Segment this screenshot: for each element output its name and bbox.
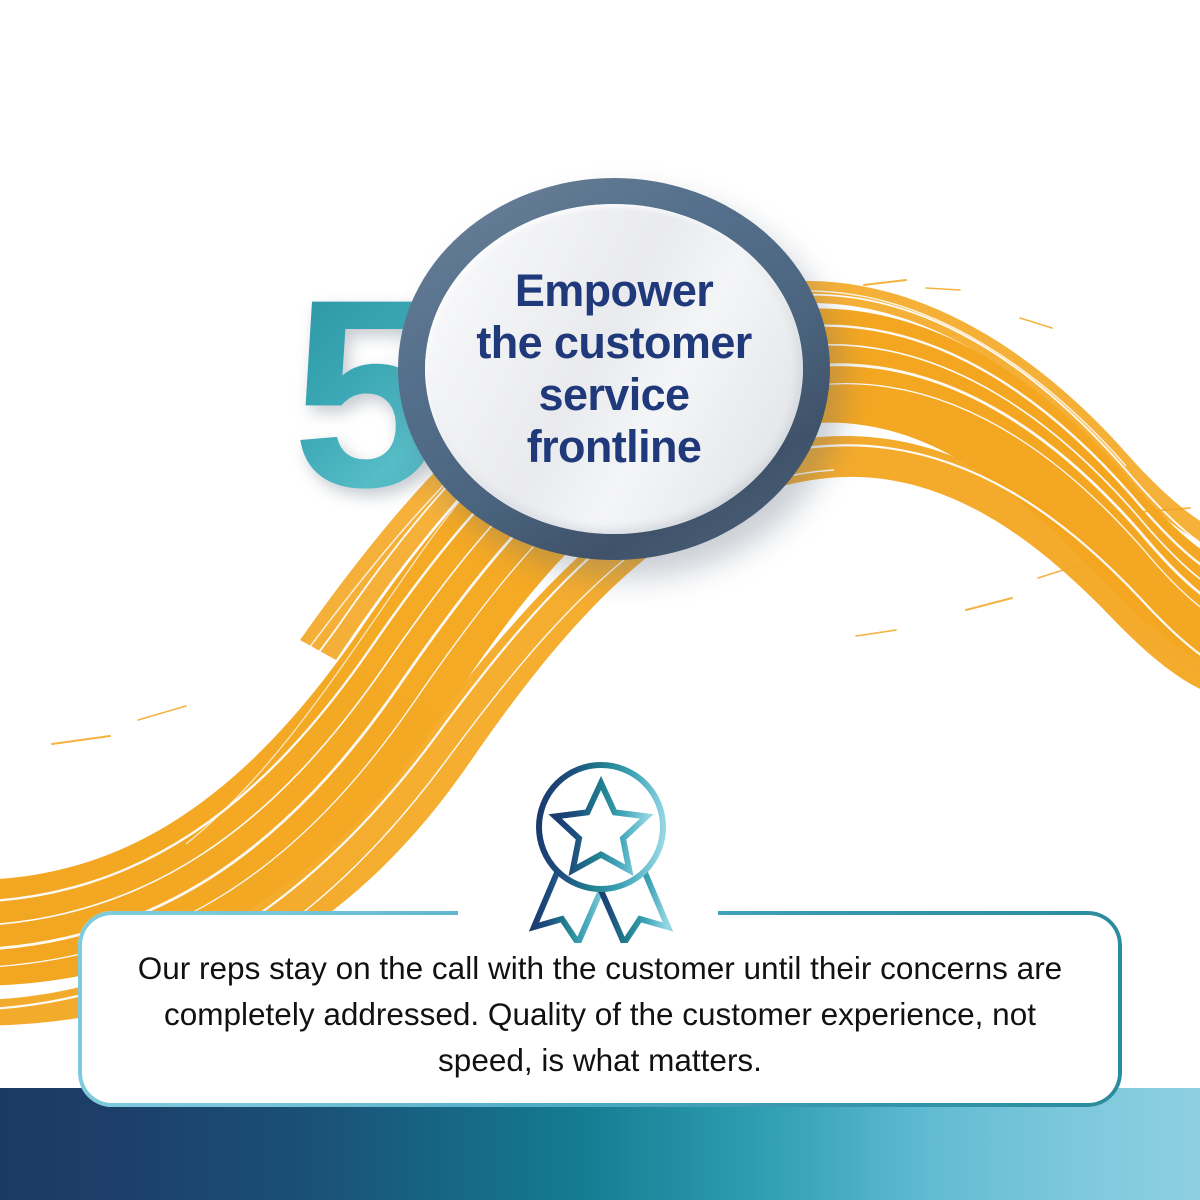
award-badge-layer	[0, 0, 1200, 1200]
infographic-canvas: 5 Empower the customer service frontline…	[0, 0, 1200, 1200]
award-badge-star-ribbon-icon	[516, 757, 686, 943]
